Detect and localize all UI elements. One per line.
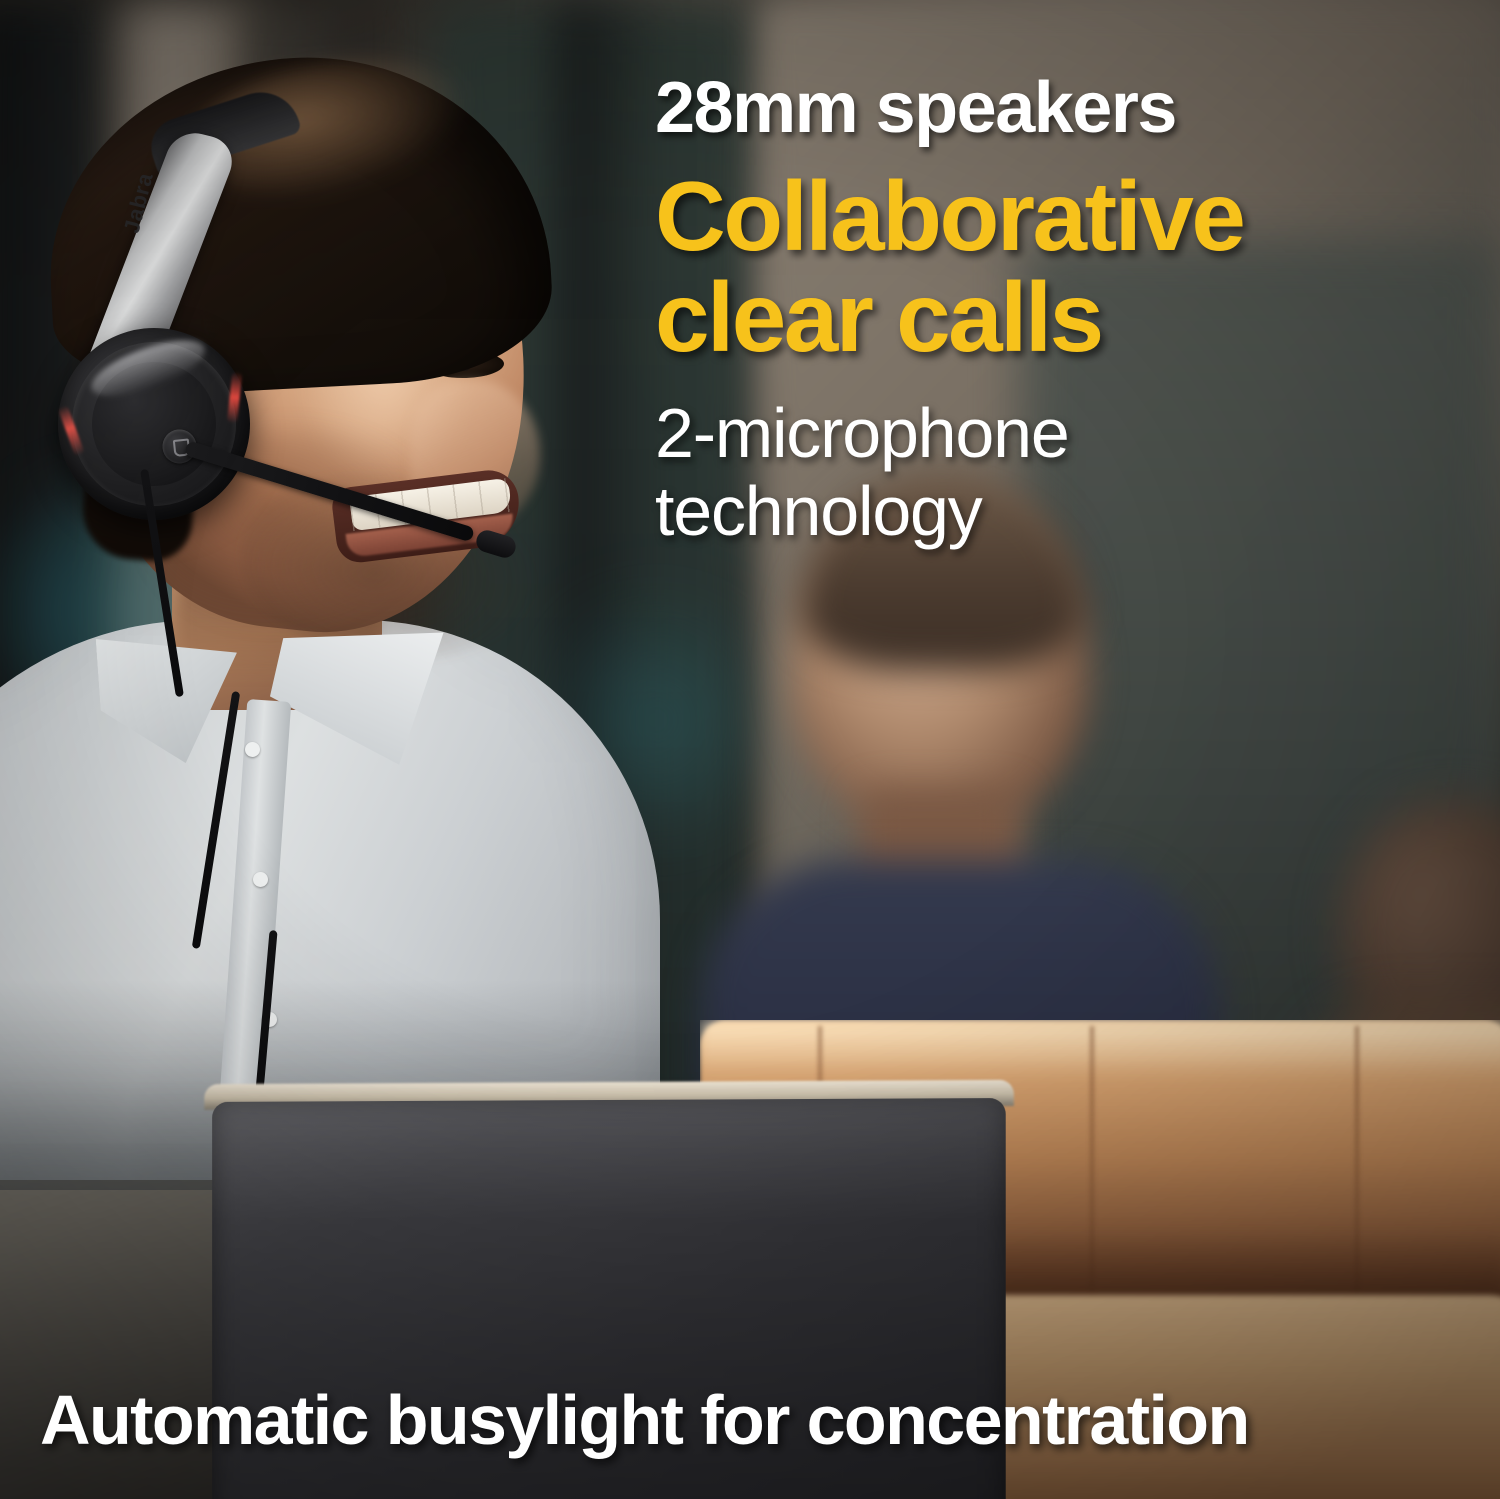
- text-overlay: 28mm speakers Collaborative clear calls …: [0, 0, 1500, 1499]
- headline: Collaborative clear calls: [655, 166, 1475, 368]
- copy-block: 28mm speakers Collaborative clear calls …: [655, 72, 1475, 551]
- bottom-banner-text: Automatic busylight for concentration: [40, 1385, 1470, 1455]
- headline-line-1: Collaborative: [655, 161, 1243, 271]
- subheadline-line-2: technology: [655, 472, 982, 550]
- spec-line: 28mm speakers: [655, 72, 1475, 144]
- subheadline: 2-microphone technology: [655, 394, 1475, 551]
- headline-line-2: clear calls: [655, 262, 1102, 372]
- product-marketing-image: Jabra 28mm speakers Collaborative: [0, 0, 1500, 1499]
- subheadline-line-1: 2-microphone: [655, 394, 1069, 472]
